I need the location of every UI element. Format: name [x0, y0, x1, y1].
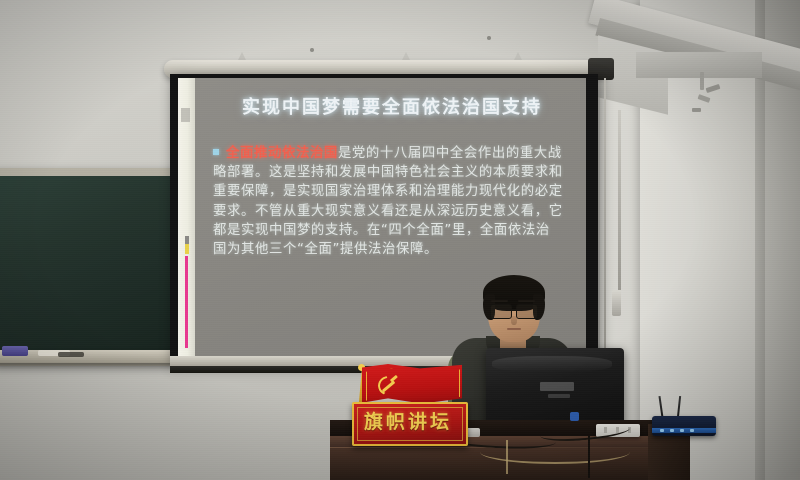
presenter-nose — [511, 316, 517, 325]
glasses-lens — [490, 304, 512, 319]
desk-cable — [480, 440, 630, 464]
sign-text: 旗帜讲坛 — [352, 407, 464, 434]
slide-body: 全面推动依法治国是党的十八届四中全会作出的重大战略部署。这是坚持和发展中国特色社… — [213, 144, 563, 259]
projection-scrollbar — [185, 256, 188, 348]
hammer-and-sickle-icon — [378, 374, 400, 394]
monitor-logo — [540, 382, 574, 391]
monitor-logo-sub — [548, 394, 570, 398]
screen-screw — [487, 36, 491, 40]
desk-accessory — [570, 412, 579, 421]
chalkboard-surface — [0, 176, 170, 352]
projection-artifact — [181, 108, 190, 122]
monitor-highlight — [492, 356, 612, 372]
router-led-icon — [690, 429, 694, 432]
screen-cord-handle[interactable] — [612, 290, 621, 316]
projection-color-bar — [185, 244, 189, 254]
hanging-cable — [506, 440, 508, 474]
screen-pull-chain[interactable] — [618, 110, 621, 290]
eraser-icon — [2, 346, 28, 356]
glasses-lens — [516, 304, 538, 319]
hanging-cable — [588, 436, 590, 478]
slide-title: 实现中国梦需要全面依法治国支持 — [217, 93, 567, 119]
router-led-icon — [670, 429, 674, 432]
wall-fitting-icon — [700, 72, 704, 90]
square-bullet-icon — [213, 149, 219, 155]
slide-highlight-text: 全面推动依法治国 — [226, 146, 338, 161]
ceiling-soffit — [636, 52, 762, 78]
wifi-router[interactable] — [652, 416, 716, 436]
projection-color-bar — [185, 236, 189, 244]
router-led-icon — [680, 429, 684, 432]
slide-body-text: 是党的十八届四中全会作出的重大战略部署。这是坚持和发展中国特色社会主义的本质要求… — [213, 146, 563, 257]
chalk-stick — [58, 352, 84, 357]
classroom-photo: 实现中国梦需要全面依法治国支持 全面推动依法治国是党的十八届四中全会作出的重大战… — [0, 0, 800, 480]
screen-pull-cord[interactable] — [604, 78, 606, 368]
glasses-bridge — [510, 309, 516, 311]
podium-sign: 旗帜讲坛 — [352, 364, 464, 442]
wall-fitting-icon — [692, 108, 701, 112]
screen-screw — [310, 48, 314, 52]
router-led-icon — [660, 429, 664, 432]
